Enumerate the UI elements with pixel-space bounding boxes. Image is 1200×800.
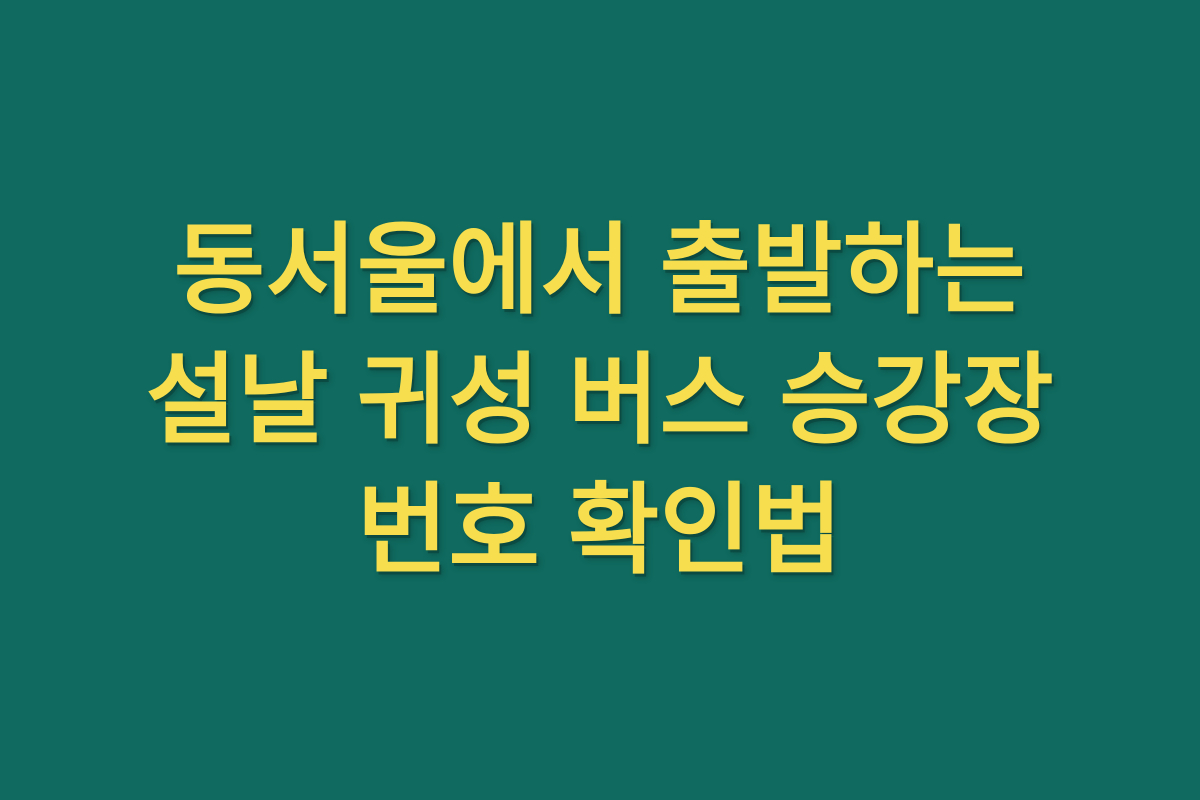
title-block: 동서울에서 출발하는 설날 귀성 버스 승강장 번호 확인법 [80,205,1120,595]
title-card: 동서울에서 출발하는 설날 귀성 버스 승강장 번호 확인법 [0,0,1200,800]
page-title: 동서울에서 출발하는 설날 귀성 버스 승강장 번호 확인법 [90,205,1110,595]
